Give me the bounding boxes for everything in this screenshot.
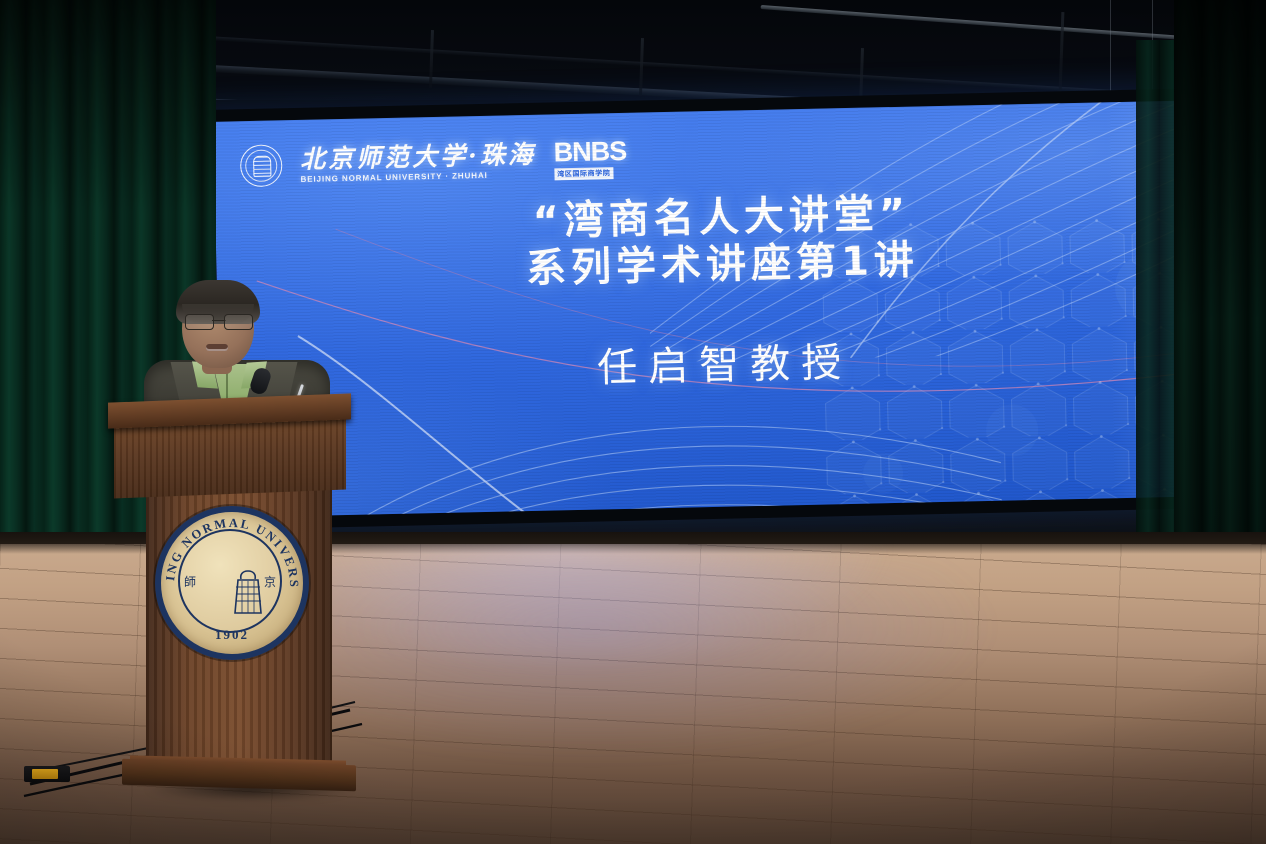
screen-surface: 北京师范大学·珠海 BEIJING NORMAL UNIVERSITY · ZH… <box>213 100 1233 518</box>
glasses-lens-left <box>185 314 214 330</box>
podium: BEIJING NORMAL UNIVERSITY 師 京 1 <box>100 398 350 798</box>
seal-char-right: 京 <box>264 573 276 590</box>
mouth <box>206 344 228 351</box>
bnu-seal: BEIJING NORMAL UNIVERSITY 師 京 1 <box>155 506 309 660</box>
seal-year: 1902 <box>161 627 303 643</box>
stage-photo: 北京师范大学·珠海 BEIJING NORMAL UNIVERSITY · ZH… <box>0 0 1266 844</box>
seal-inner-ring: 師 京 <box>178 529 282 633</box>
seal-char-left: 師 <box>184 573 196 590</box>
truss-upright <box>1059 12 1065 92</box>
glasses-lens-right <box>224 314 253 330</box>
led-screen: 北京师范大学·珠海 BEIJING NORMAL UNIVERSITY · ZH… <box>205 88 1244 530</box>
led-scanlines <box>213 100 1233 518</box>
floor-audio-box <box>24 766 70 782</box>
glasses-icon <box>184 314 254 328</box>
truss-upright <box>639 38 644 96</box>
